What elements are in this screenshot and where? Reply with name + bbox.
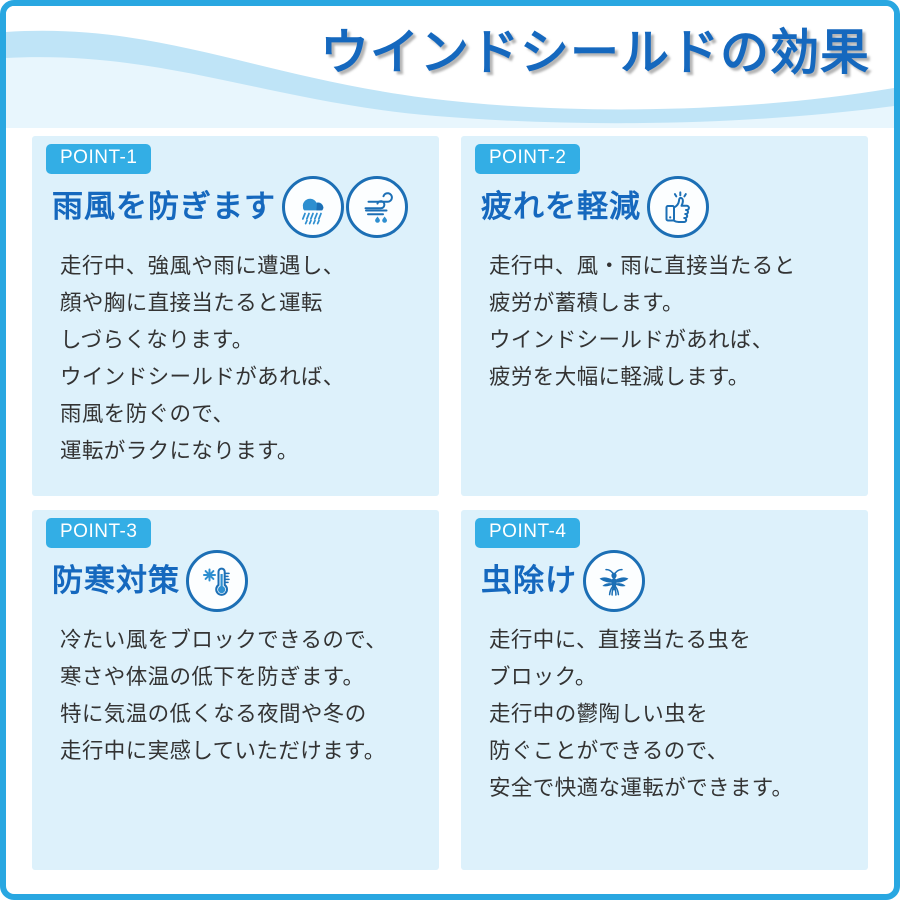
card-title-2: 疲れを軽減 — [481, 190, 641, 224]
card-line: 走行中に実感していただけます。 — [60, 733, 423, 770]
card-line: 疲労を大幅に軽減します。 — [489, 359, 852, 396]
header: ウインドシールドの効果 — [6, 6, 894, 128]
card-title-3: 防寒対策 — [52, 564, 180, 598]
card-line: 顔や胸に直接当たると運転 — [60, 285, 423, 322]
card-line: 運転がラクになります。 — [60, 433, 423, 470]
card-line: しづらくなります。 — [60, 322, 423, 359]
mosquito-icon — [583, 550, 645, 612]
wind-rain-icon — [346, 176, 408, 238]
card-header-1: 雨風を防ぎます — [52, 176, 423, 238]
card-header-3: 防寒対策 — [52, 550, 423, 612]
points-grid: POINT-1 雨風を防ぎます — [6, 128, 894, 890]
point-badge-3: POINT-3 — [46, 518, 151, 548]
card-body-3: 冷たい風をブロックできるので、 寒さや体温の低下を防ぎます。 特に気温の低くなる… — [48, 622, 423, 770]
card-line: ウインドシールドがあれば、 — [489, 322, 852, 359]
icon-row-3 — [186, 550, 248, 612]
card-line: ウインドシールドがあれば、 — [60, 359, 423, 396]
card-body-4: 走行中に、直接当たる虫を ブロック。 走行中の鬱陶しい虫を 防ぐことができるので… — [477, 622, 852, 807]
card-body-1: 走行中、強風や雨に遭遇し、 顔や胸に直接当たると運転 しづらくなります。 ウイン… — [48, 248, 423, 470]
card-line: 防ぐことができるので、 — [489, 733, 852, 770]
card-line: ブロック。 — [489, 659, 852, 696]
card-header-2: 疲れを軽減 — [481, 176, 852, 238]
card-title-4: 虫除け — [481, 564, 577, 598]
card-header-4: 虫除け — [481, 550, 852, 612]
page-title: ウインドシールドの効果 — [320, 28, 870, 79]
card-line: 冷たい風をブロックできるので、 — [60, 622, 423, 659]
card-line: 走行中、強風や雨に遭遇し、 — [60, 248, 423, 285]
card-title-1: 雨風を防ぎます — [52, 190, 276, 224]
card-line: 走行中の鬱陶しい虫を — [489, 696, 852, 733]
card-line: 寒さや体温の低下を防ぎます。 — [60, 659, 423, 696]
point-card-2: POINT-2 疲れを軽減 — [461, 136, 868, 496]
card-body-2: 走行中、風・雨に直接当たると 疲労が蓄積します。 ウインドシールドがあれば、 疲… — [477, 248, 852, 396]
point-badge-2: POINT-2 — [475, 144, 580, 174]
point-badge-1: POINT-1 — [46, 144, 151, 174]
icon-row-2 — [647, 176, 709, 238]
card-line: 走行中、風・雨に直接当たると — [489, 248, 852, 285]
card-line: 走行中に、直接当たる虫を — [489, 622, 852, 659]
card-line: 疲労が蓄積します。 — [489, 285, 852, 322]
point-card-3: POINT-3 防寒対策 — [32, 510, 439, 870]
icon-row-4 — [583, 550, 645, 612]
point-card-4: POINT-4 虫除け — [461, 510, 868, 870]
card-line: 特に気温の低くなる夜間や冬の — [60, 696, 423, 733]
thermometer-snowflake-icon — [186, 550, 248, 612]
card-line: 雨風を防ぐので、 — [60, 396, 423, 433]
card-line: 安全で快適な運転ができます。 — [489, 770, 852, 807]
point-badge-4: POINT-4 — [475, 518, 580, 548]
infographic-page: ウインドシールドの効果 POINT-1 雨風を防ぎます — [0, 0, 900, 900]
rain-cloud-icon — [282, 176, 344, 238]
point-card-1: POINT-1 雨風を防ぎます — [32, 136, 439, 496]
thumbs-up-icon — [647, 176, 709, 238]
icon-row-1 — [282, 176, 408, 238]
